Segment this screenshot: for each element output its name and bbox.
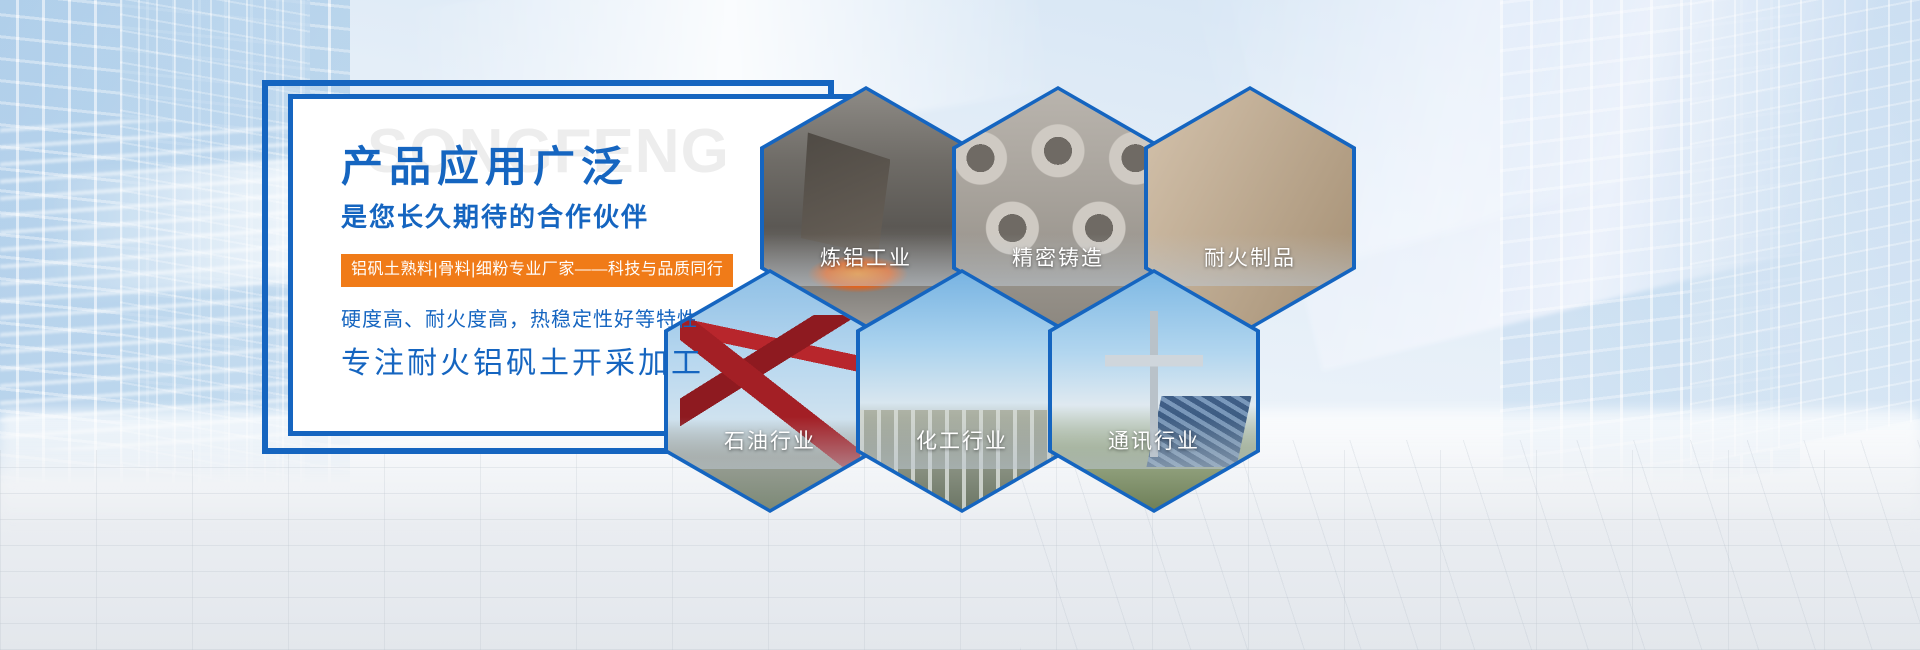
promo-banner: SONGFENG 产品应用广泛 是您长久期待的合作伙伴 铝矾土熟料|骨料|细粉专…	[0, 0, 1920, 650]
hexagon-label: 石油行业	[668, 425, 872, 455]
hexagon-label: 化工行业	[860, 425, 1064, 455]
tagline-text: 专注耐火铝矾土开采加工	[341, 347, 851, 380]
highlight-badge: 铝矾土熟料|骨料|细粉专业厂家——科技与品质同行	[341, 254, 733, 287]
industry-hexagon-cluster: 炼铝工业 精密铸造 耐火制品 石油行业	[760, 86, 1380, 506]
hexagon-label: 精密铸造	[956, 242, 1160, 272]
hexagon-label: 通讯行业	[1052, 425, 1256, 455]
page-title: 产品应用广泛	[341, 145, 851, 189]
feature-text: 硬度高、耐火度高，热稳定性好等特性	[341, 309, 851, 331]
background-tower-right-secondary	[1690, 0, 1920, 465]
hexagon-label: 耐火制品	[1148, 242, 1352, 272]
subtitle: 是您长久期待的合作伙伴	[341, 203, 851, 232]
